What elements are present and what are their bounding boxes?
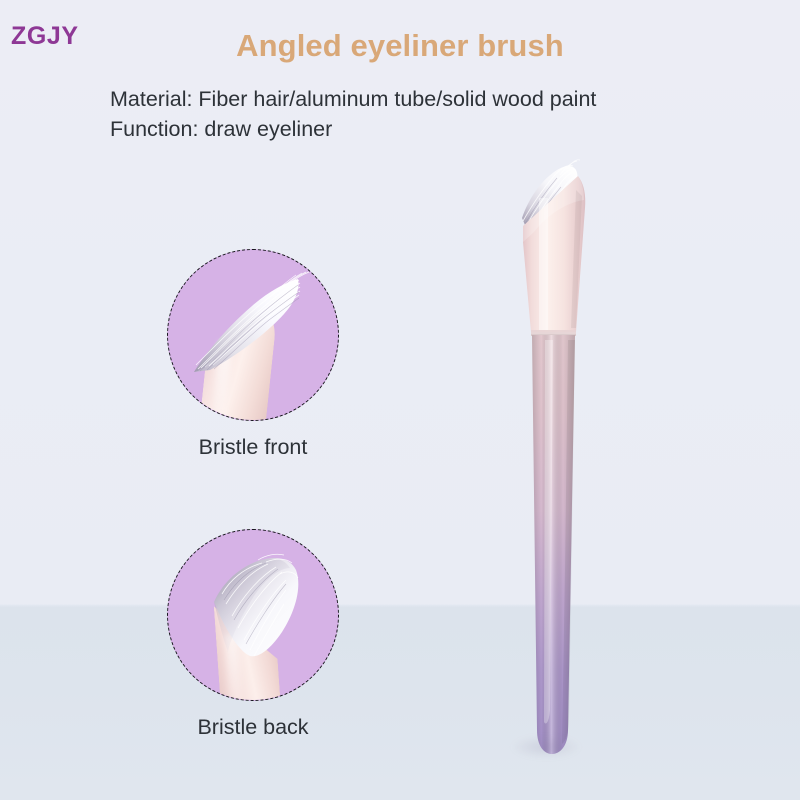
inset-caption-bristle-front: Bristle front bbox=[123, 437, 383, 459]
inset-caption-bristle-back: Bristle back bbox=[123, 717, 383, 739]
spec-block: Material: Fiber hair/aluminum tube/solid… bbox=[110, 84, 596, 144]
background-horizon-line bbox=[0, 604, 800, 608]
background-lower bbox=[0, 607, 800, 800]
spec-material: Material: Fiber hair/aluminum tube/solid… bbox=[110, 84, 596, 114]
inset-back-bristle-fan bbox=[196, 548, 322, 664]
inset-circle-bristle-back bbox=[167, 529, 339, 701]
product-image-canvas: ZGJY Angled eyeliner brush Material: Fib… bbox=[0, 0, 800, 800]
inset-circle-bristle-front bbox=[167, 249, 339, 421]
product-shadow bbox=[512, 736, 580, 758]
page-title: Angled eyeliner brush bbox=[0, 28, 800, 64]
product-brush bbox=[492, 150, 612, 770]
product-brush-art bbox=[492, 150, 612, 770]
inset-front-bristle-fan bbox=[180, 268, 312, 376]
spec-function: Function: draw eyeliner bbox=[110, 114, 596, 144]
